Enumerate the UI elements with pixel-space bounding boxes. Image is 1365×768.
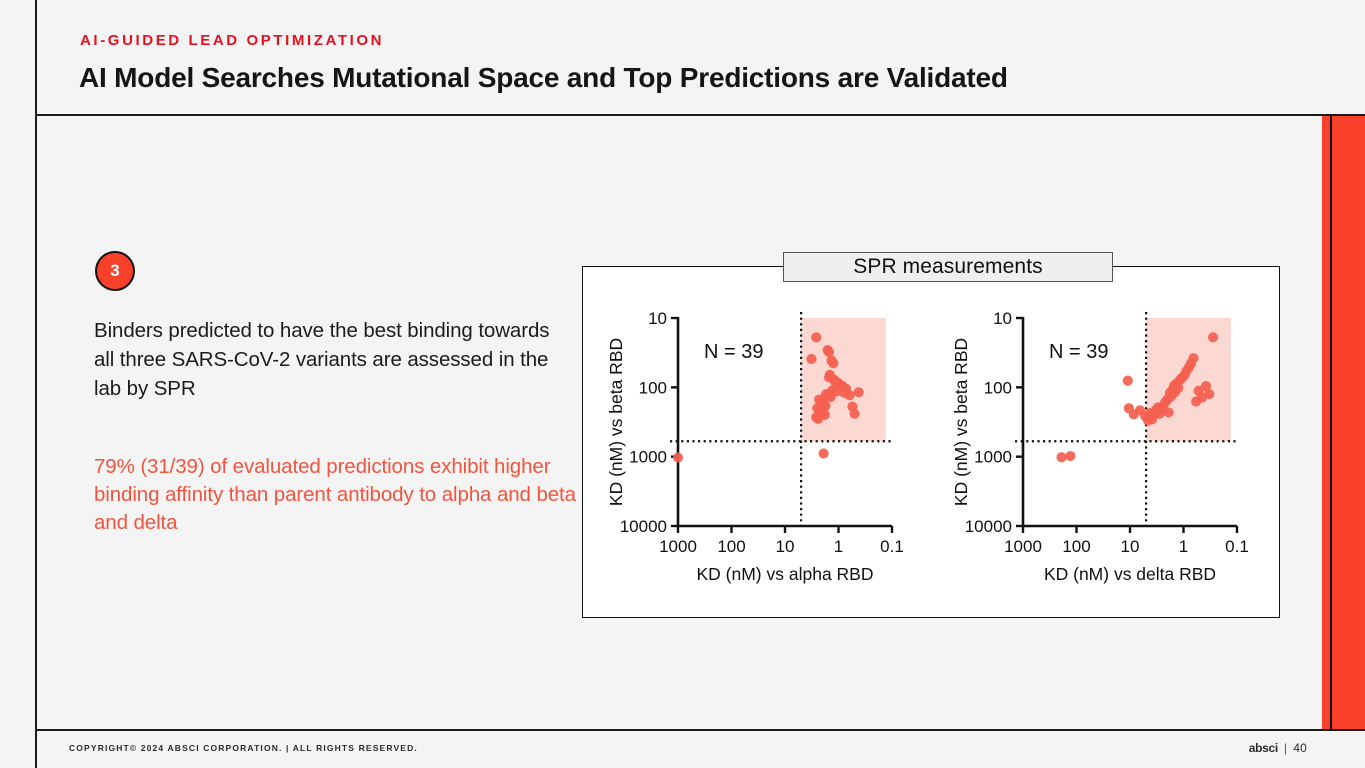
figure-tab-label: SPR measurements [853, 255, 1043, 279]
page-title: AI Model Searches Mutational Space and T… [79, 62, 1008, 94]
y-tick-label: 100 [984, 378, 1012, 397]
data-point [813, 414, 823, 424]
x-tick-label: 10 [1121, 537, 1140, 556]
y-tick-label: 10 [648, 309, 667, 328]
y-axis-label: KD (nM) vs beta RBD [606, 338, 626, 506]
x-tick-label: 100 [1062, 537, 1090, 556]
body-paragraph: Binders predicted to have the best bindi… [94, 316, 574, 403]
footer-copyright: COPYRIGHT© 2024 ABSCI CORPORATION. | ALL… [69, 743, 418, 753]
page-number: 40 [1293, 741, 1307, 755]
slide-root: AI-GUIDED LEAD OPTIMIZATION AI Model Sea… [0, 0, 1365, 768]
step-number-badge: 3 [95, 251, 135, 291]
y-tick-label: 1000 [629, 448, 667, 467]
data-point [1204, 389, 1214, 399]
shaded-quadrant [1146, 318, 1231, 441]
footer-separator: | [1284, 741, 1287, 755]
data-point [806, 354, 816, 364]
data-point [824, 372, 834, 382]
y-tick-label: 10000 [965, 517, 1012, 536]
data-point [811, 332, 821, 342]
right-accent-bar [1322, 116, 1365, 729]
x-axis-label: KD (nM) vs delta RBD [1044, 564, 1216, 584]
sample-size-annotation: N = 39 [1049, 341, 1108, 363]
header-divider-rule [35, 114, 1365, 116]
x-tick-label: 1 [1179, 537, 1188, 556]
data-point [673, 452, 683, 462]
figure-tab-header: SPR measurements [783, 252, 1113, 282]
x-tick-label: 0.1 [1225, 537, 1249, 556]
data-point [854, 387, 864, 397]
data-point [1056, 452, 1066, 462]
brand-label: absci [1249, 741, 1278, 755]
data-point [1065, 451, 1075, 461]
right-accent-line [1330, 116, 1332, 729]
y-tick-label: 10 [993, 309, 1012, 328]
data-point [1123, 376, 1133, 386]
x-axis-label: KD (nM) vs alpha RBD [697, 564, 874, 584]
data-point [1163, 407, 1173, 417]
y-tick-label: 100 [639, 378, 667, 397]
x-tick-label: 0.1 [880, 537, 904, 556]
data-point [850, 409, 860, 419]
data-point [1188, 353, 1198, 363]
y-tick-label: 10000 [620, 517, 667, 536]
scatter-plot-delta-vs-beta: 1010010001000010001001010.1N = 39KD (nM)… [945, 292, 1275, 592]
y-tick-label: 1000 [974, 448, 1012, 467]
x-tick-label: 1000 [659, 537, 697, 556]
sample-size-annotation: N = 39 [704, 341, 763, 363]
x-tick-label: 10 [776, 537, 795, 556]
highlight-paragraph: 79% (31/39) of evaluated predictions exh… [94, 453, 584, 537]
footer-divider-rule [35, 729, 1365, 731]
slide-eyebrow: AI-GUIDED LEAD OPTIMIZATION [80, 32, 384, 49]
y-axis-label: KD (nM) vs beta RBD [951, 338, 971, 506]
x-tick-label: 1000 [1004, 537, 1042, 556]
x-tick-label: 100 [717, 537, 745, 556]
data-point [818, 448, 828, 458]
data-point [845, 390, 855, 400]
data-point [1208, 332, 1218, 342]
footer-branding: absci | 40 [1249, 741, 1307, 755]
x-tick-label: 1 [834, 537, 843, 556]
scatter-plot-alpha-vs-beta: 1010010001000010001001010.1N = 39KD (nM)… [600, 292, 930, 592]
data-point [828, 358, 838, 368]
step-number-label: 3 [110, 261, 119, 281]
